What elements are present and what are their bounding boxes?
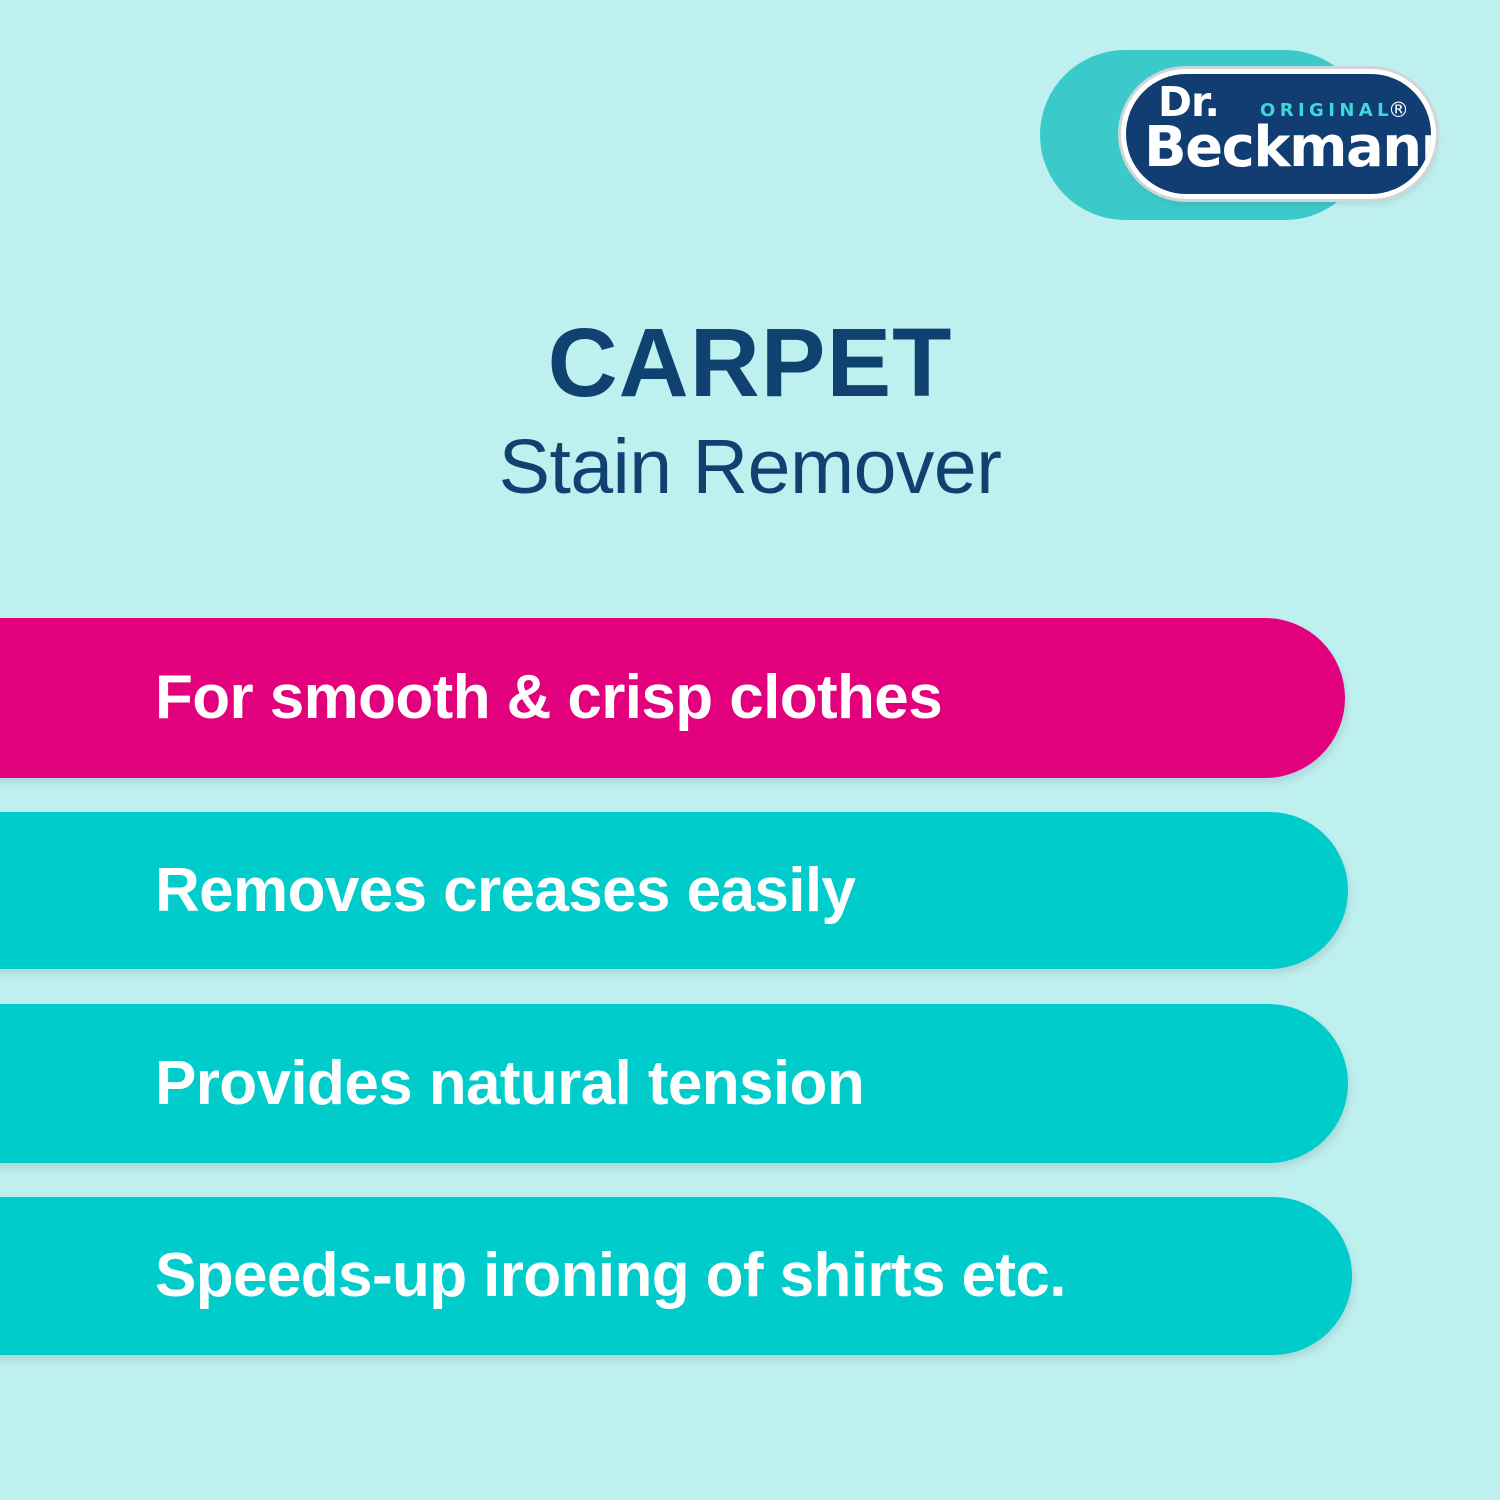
product-title-block: CARPET Stain Remover bbox=[0, 312, 1500, 510]
logo-badge-inner: Dr. ORIGINAL ® Beckmann bbox=[1126, 74, 1431, 194]
feature-bar-3: Provides natural tension bbox=[0, 1004, 1348, 1163]
feature-bar-label: Speeds-up ironing of shirts etc. bbox=[0, 1245, 1066, 1307]
brand-logo: Dr. ORIGINAL ® Beckmann bbox=[1040, 50, 1440, 240]
page-subtitle: Stain Remover bbox=[0, 425, 1500, 510]
logo-badge: Dr. ORIGINAL ® Beckmann bbox=[1126, 74, 1431, 194]
feature-bar-label: Provides natural tension bbox=[0, 1053, 864, 1115]
product-feature-card: Dr. ORIGINAL ® Beckmann CARPET Stain Rem… bbox=[0, 0, 1500, 1500]
feature-bar-4: Speeds-up ironing of shirts etc. bbox=[0, 1197, 1352, 1355]
feature-bar-1: For smooth & crisp clothes bbox=[0, 618, 1345, 778]
feature-bar-label: For smooth & crisp clothes bbox=[0, 667, 942, 729]
page-title: CARPET bbox=[0, 312, 1500, 415]
feature-bar-label: Removes creases easily bbox=[0, 860, 855, 922]
logo-beckmann-text: Beckmann bbox=[1144, 120, 1431, 176]
feature-bar-2: Removes creases easily bbox=[0, 812, 1348, 969]
